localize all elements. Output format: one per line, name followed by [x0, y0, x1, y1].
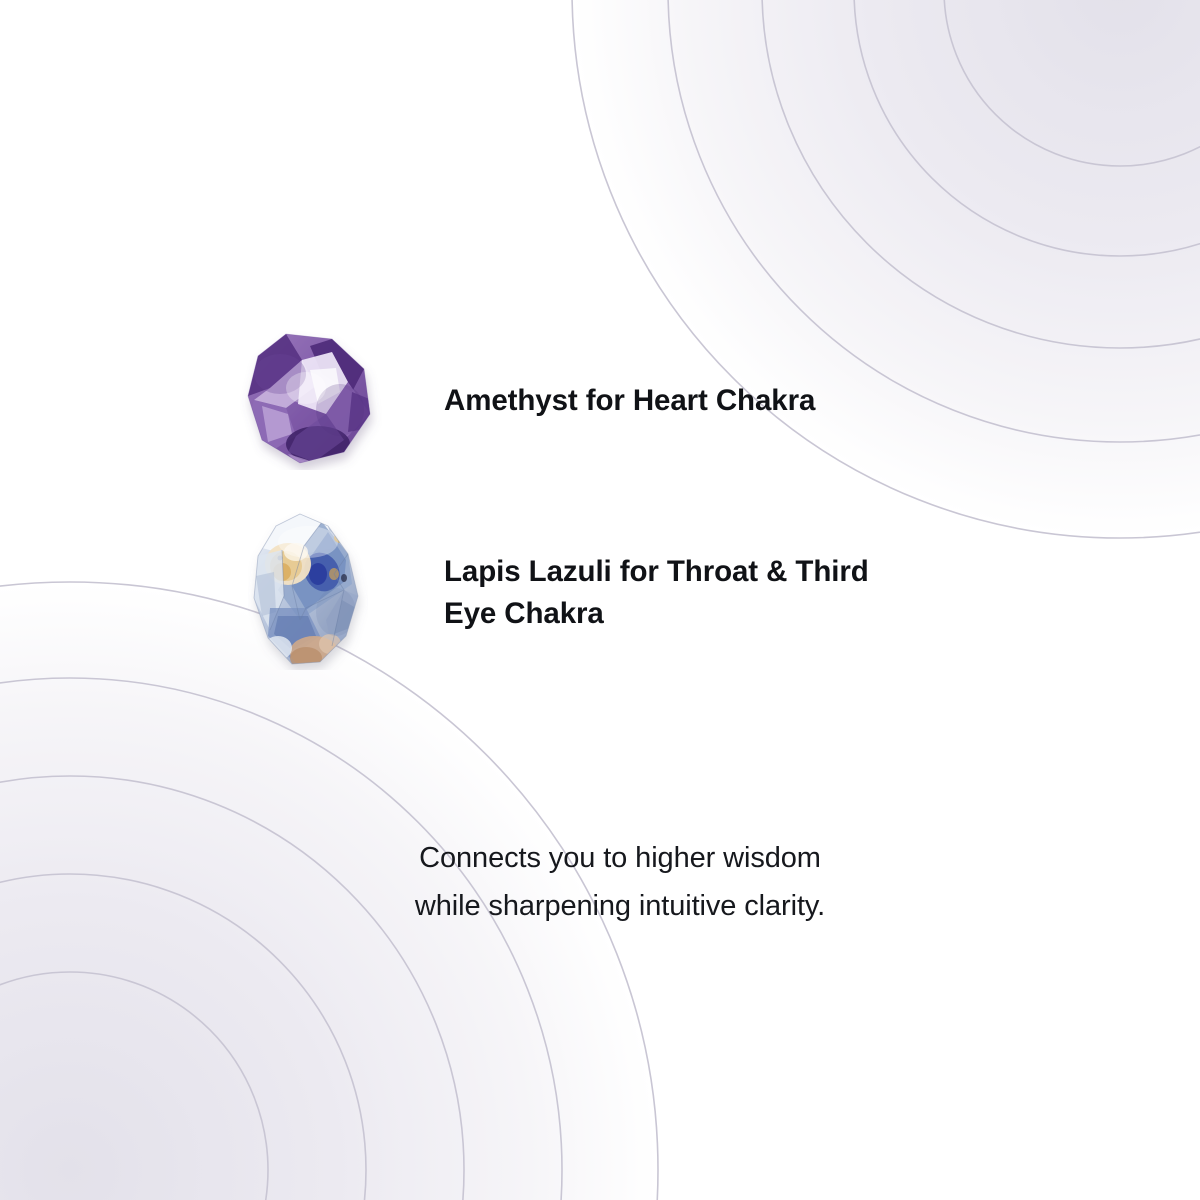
- poster-canvas: Amethyst for Heart Chakra: [0, 0, 1200, 1200]
- amethyst-gemstone-icon: [240, 330, 382, 470]
- stone-row-amethyst: Amethyst for Heart Chakra: [240, 330, 964, 470]
- stone-label-amethyst: Amethyst for Heart Chakra: [444, 380, 964, 422]
- caption-text: Connects you to higher wisdom while shar…: [0, 834, 1200, 930]
- lapis-lazuli-gemstone-icon: [248, 512, 368, 670]
- lapis-svg: [248, 512, 368, 670]
- amethyst-svg: [240, 330, 382, 470]
- stone-label-lapis-lazuli: Lapis Lazuli for Throat & Third Eye Chak…: [444, 551, 964, 635]
- stone-row-lapis-lazuli: Lapis Lazuli for Throat & Third Eye Chak…: [248, 512, 964, 670]
